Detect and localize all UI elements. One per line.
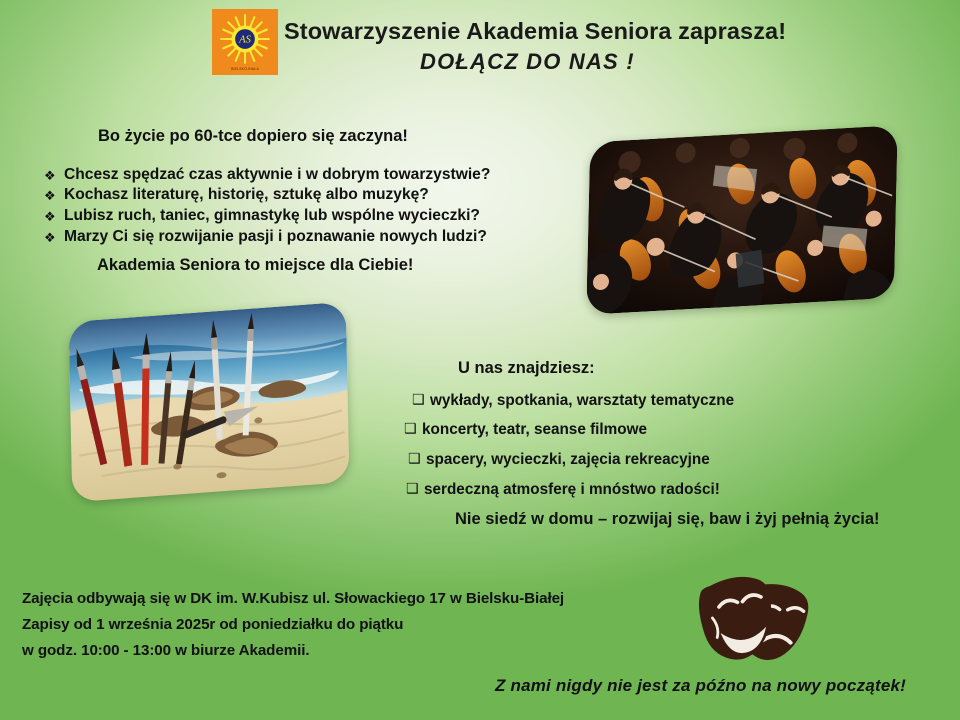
sun-icon: AS [219,13,271,65]
square-bullet-icon: ❑ [406,481,419,495]
seascape-painting-illustration [68,302,349,503]
poster-title-line1: Stowarzyszenie Akademia Seniora zaprasza… [284,18,786,45]
footer-line-3: w godz. 10:00 - 13:00 w biurze Akademii. [22,642,309,659]
association-logo: AS BIELSKO-BIAŁA [212,9,278,75]
list-item: Lubisz ruch, taniec, gimnastykę lub wspó… [64,207,480,225]
closing-slogan: Z nami nigdy nie jest za późno na nowy p… [495,676,906,696]
list-item: wykłady, spotkania, warsztaty tematyczne [430,392,734,410]
theatre-masks-icon [697,570,813,668]
poster-canvas: AS BIELSKO-BIAŁA Stowarzyszenie Akademia… [0,0,960,720]
square-bullet-icon: ❑ [412,392,425,406]
orchestra-illustration [586,125,897,315]
offer-heading: U nas znajdziesz: [458,359,595,378]
footer-line-2: Zapisy od 1 września 2025r od poniedział… [22,616,403,633]
diamond-bullet-icon: ❖ [44,210,56,223]
diamond-bullet-icon: ❖ [44,189,56,202]
list-item: serdeczną atmosferę i mnóstwo radości! [424,481,720,499]
list-item: Kochasz literaturę, historię, sztukę alb… [64,186,429,204]
square-bullet-icon: ❑ [404,421,417,435]
list-item: koncerty, teatr, seanse filmowe [422,421,647,439]
call-to-action: Nie siedź w domu – rozwijaj się, baw i ż… [455,510,880,529]
diamond-bullet-icon: ❖ [44,169,56,182]
square-bullet-icon: ❑ [408,451,421,465]
painting-photo [68,302,349,503]
diamond-bullet-icon: ❖ [44,231,56,244]
list-item: Chcesz spędzać czas aktywnie i w dobrym … [64,166,490,184]
list-item: spacery, wycieczki, zajęcia rekreacyjne [426,451,710,469]
logo-initials: AS [238,35,251,46]
logo-caption: BIELSKO-BIAŁA [231,67,259,71]
list-item: Marzy Ci się rozwijanie pasji i poznawan… [64,228,487,246]
footer-line-1: Zajęcia odbywają się w DK im. W.Kubisz u… [22,590,564,607]
lead-heading: Bo życie po 60-tce dopiero się zaczyna! [98,127,408,146]
masks-illustration [697,570,813,668]
mid-heading: Akademia Seniora to miejsce dla Ciebie! [97,256,413,275]
poster-title-line2: DOŁĄCZ DO NAS ! [420,49,635,75]
orchestra-photo [586,125,897,315]
